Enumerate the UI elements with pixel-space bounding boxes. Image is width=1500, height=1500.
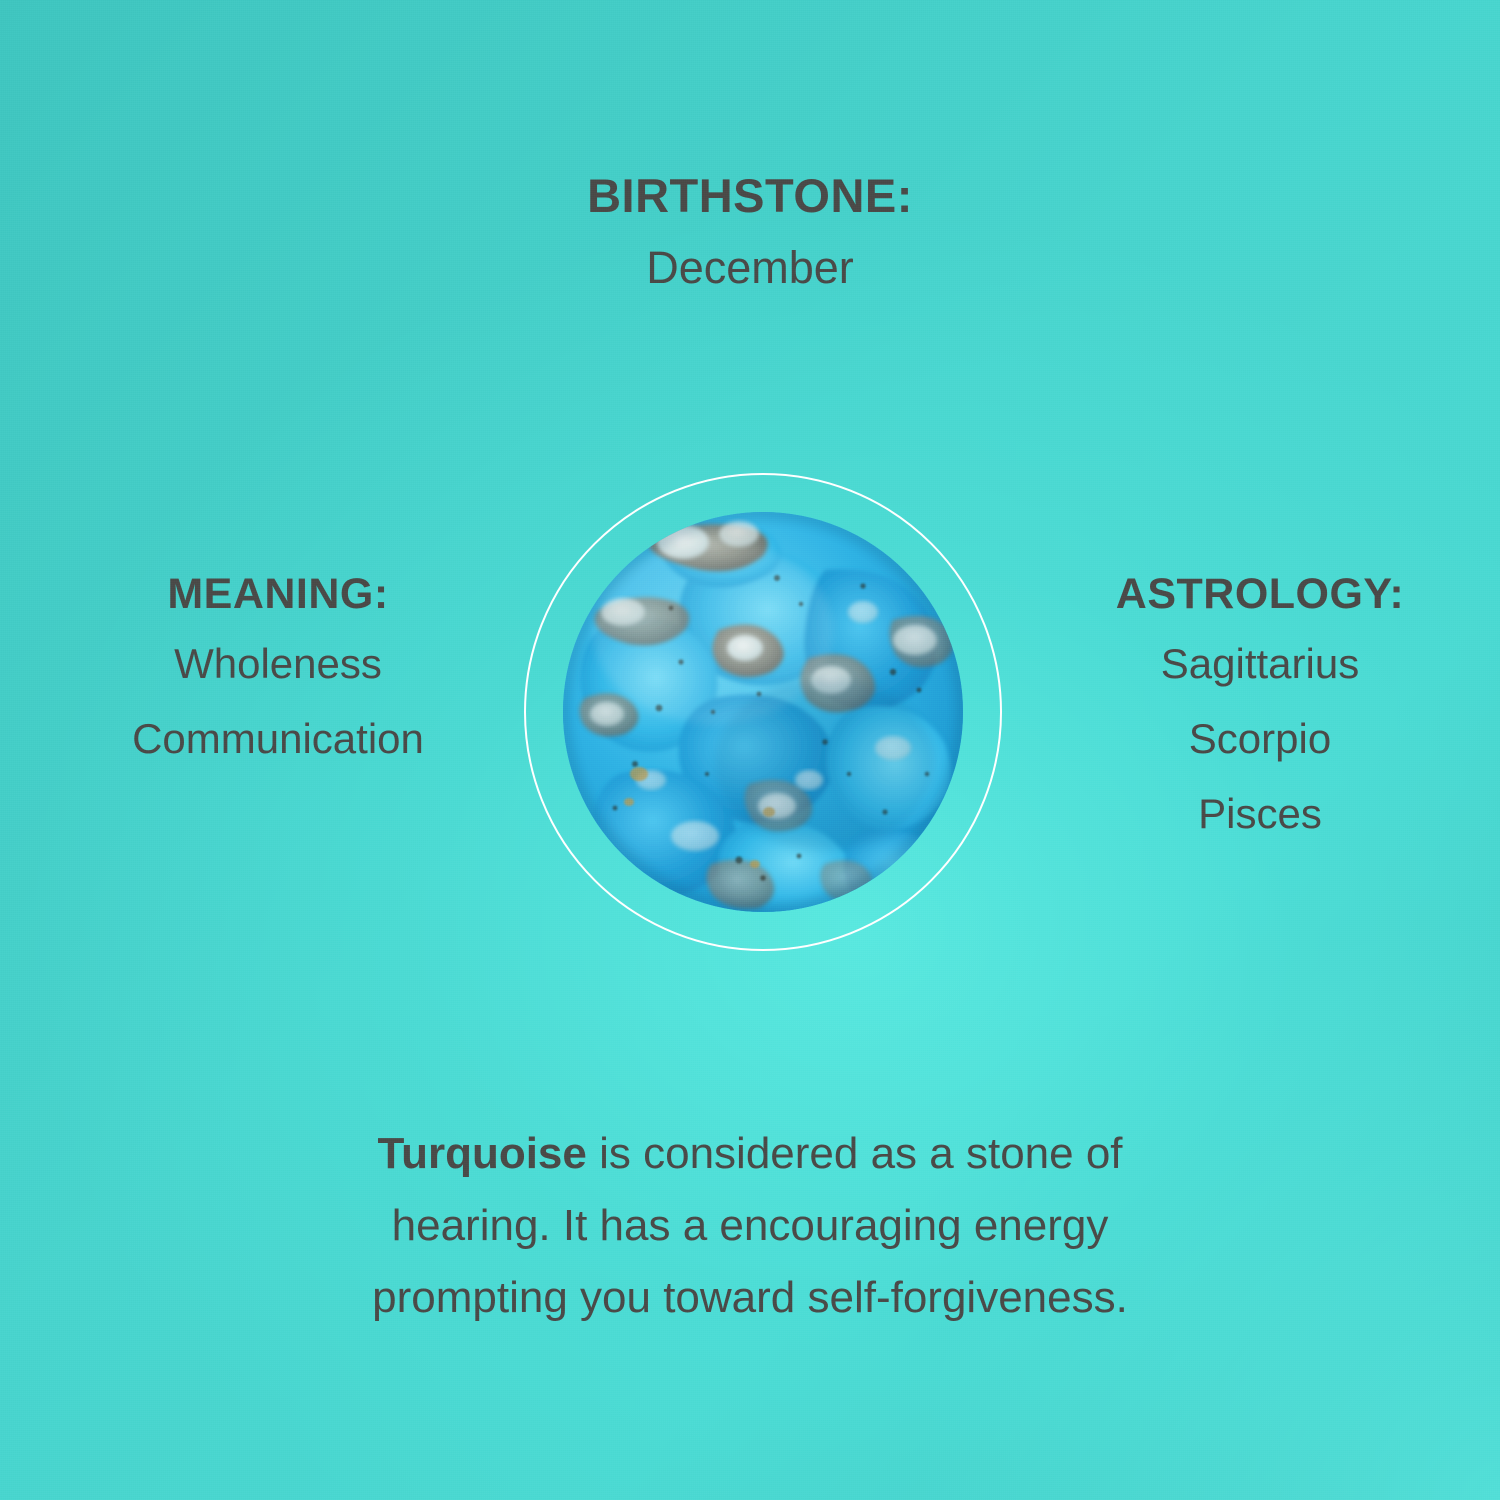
description-line-3: prompting you toward self-forgiveness.	[250, 1262, 1250, 1334]
description-line-1-rest: is considered as a stone of	[587, 1129, 1123, 1178]
birthstone-block: BIRTHSTONE: December	[0, 168, 1500, 295]
meaning-block: MEANING: Wholeness Communication	[28, 568, 528, 764]
meaning-value-2: Communication	[28, 713, 528, 764]
description-block: Turquoise is considered as a stone of he…	[250, 1118, 1250, 1334]
meaning-value-1: Wholeness	[28, 638, 528, 689]
description-line-2: hearing. It has a encouraging energy	[250, 1190, 1250, 1262]
astrology-value-3: Pisces	[1010, 788, 1500, 839]
turquoise-stone-photo-icon	[563, 512, 963, 912]
birthstone-value: December	[0, 241, 1500, 295]
astrology-heading: ASTROLOGY:	[1010, 568, 1500, 620]
birthstone-heading: BIRTHSTONE:	[0, 168, 1500, 224]
astrology-value-2: Scorpio	[1010, 713, 1500, 764]
description-line-1: Turquoise is considered as a stone of	[250, 1118, 1250, 1190]
stone-medallion	[524, 473, 1002, 951]
description-bold-lead: Turquoise	[377, 1129, 586, 1178]
meaning-heading: MEANING:	[28, 568, 528, 620]
astrology-block: ASTROLOGY: Sagittarius Scorpio Pisces	[1010, 568, 1500, 839]
infographic-card: BIRTHSTONE: December MEANING: Wholeness …	[0, 0, 1500, 1500]
astrology-value-1: Sagittarius	[1010, 638, 1500, 689]
